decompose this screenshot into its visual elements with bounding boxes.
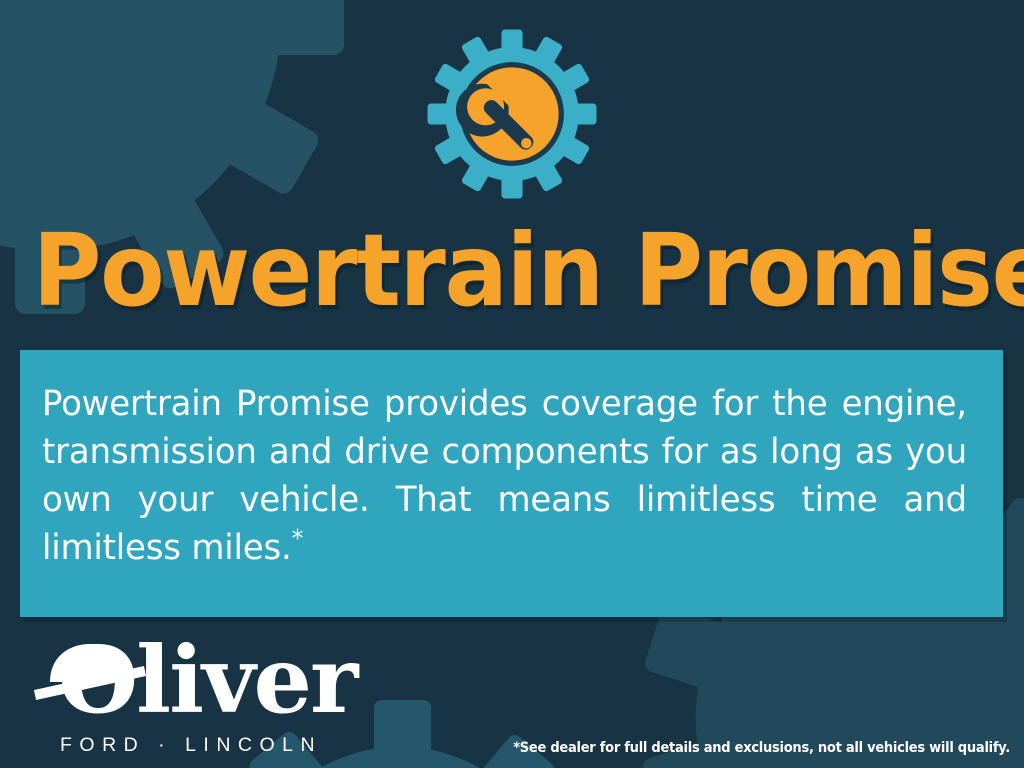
promise-description-body: Powertrain Promise provides coverage for… xyxy=(42,384,967,568)
gear-wrench-icon xyxy=(424,26,600,202)
page-title-container: Powertrain Promise xyxy=(0,222,1024,320)
logo-wordmark-row: Oliver xyxy=(28,638,328,730)
promise-description-text: Powertrain Promise provides coverage for… xyxy=(42,380,967,572)
promise-description-panel: Powertrain Promise provides coverage for… xyxy=(20,350,1003,617)
oliver-ford-lincoln-logo: Oliver FORD · LINCOLN xyxy=(28,638,328,762)
bowler-hat-icon xyxy=(32,638,148,710)
page-title: Powertrain Promise xyxy=(33,222,1024,320)
logo-subtitle: FORD · LINCOLN xyxy=(60,734,322,757)
disclaimer-text: *See dealer for full details and exclusi… xyxy=(513,740,1010,756)
footnote-marker: * xyxy=(292,525,304,553)
